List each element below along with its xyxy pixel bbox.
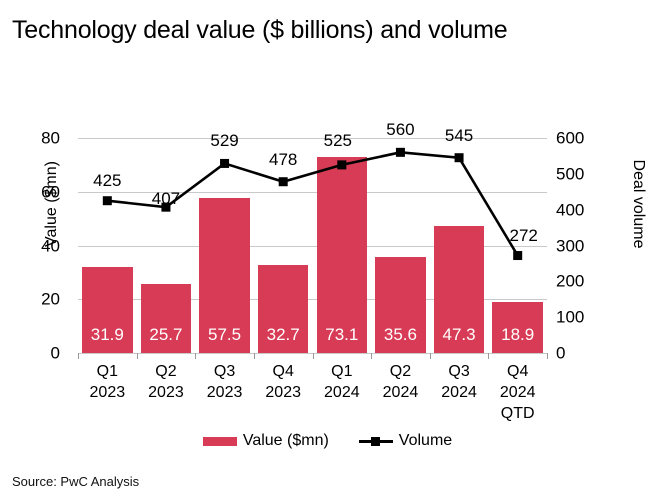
legend-item-label: Value ($mn) <box>243 432 329 450</box>
line-marker-icon <box>359 436 393 446</box>
legend-item[interactable]: Volume <box>359 432 452 450</box>
x-axis-category-line: Q3 <box>195 361 254 382</box>
x-axis-category-line: 2023 <box>254 382 313 403</box>
y-axis-right-tick-label: 200 <box>556 273 584 290</box>
y-axis-right-tick-label: 100 <box>556 309 584 326</box>
y-axis-right-ticks: 0100200300400500600 <box>556 138 616 353</box>
x-axis-tick-mark <box>371 353 372 359</box>
x-axis-tick-mark <box>78 353 79 359</box>
y-axis-right-tick-label: 0 <box>556 345 565 362</box>
x-axis-tick-mark <box>547 353 548 359</box>
x-axis-category-line: 2023 <box>195 382 254 403</box>
bar-swatch-icon <box>203 437 237 446</box>
x-axis-category-label: Q12023 <box>78 361 137 403</box>
y-axis-left-tick-label: 20 <box>41 291 60 308</box>
x-axis-tick-mark <box>137 353 138 359</box>
x-axis-category-line: 2023 <box>137 382 196 403</box>
x-axis-tick-mark <box>195 353 196 359</box>
legend: Value ($mn)Volume <box>0 432 655 450</box>
volume-value-label: 560 <box>386 120 414 140</box>
y-axis-left-tick-label: 40 <box>41 237 60 254</box>
volume-marker[interactable] <box>455 153 464 162</box>
chart-container: Technology deal value ($ billions) and v… <box>0 0 655 500</box>
legend-item-label: Volume <box>399 432 452 450</box>
x-axis-category-line: 2023 <box>78 382 137 403</box>
x-axis-tick-mark <box>313 353 314 359</box>
x-axis-category-label: Q22023 <box>137 361 196 403</box>
line-series <box>78 138 547 353</box>
volume-marker[interactable] <box>220 159 229 168</box>
y-axis-left-tick-label: 80 <box>41 130 60 147</box>
x-axis-category-line: Q1 <box>313 361 372 382</box>
volume-value-label: 272 <box>510 226 538 246</box>
x-axis-category-line: 2024 <box>371 382 430 403</box>
volume-value-label: 525 <box>324 131 352 151</box>
x-axis-category-line: Q2 <box>137 361 196 382</box>
volume-marker[interactable] <box>337 160 346 169</box>
volume-marker[interactable] <box>103 196 112 205</box>
volume-marker[interactable] <box>513 251 522 260</box>
volume-value-label: 478 <box>269 150 297 170</box>
y-axis-left-tick-label: 60 <box>41 183 60 200</box>
volume-value-label: 545 <box>445 126 473 146</box>
x-axis-tick-mark <box>488 353 489 359</box>
volume-value-label: 425 <box>93 171 121 191</box>
x-axis-category-label: Q42023 <box>254 361 313 403</box>
volume-value-label: 529 <box>210 131 238 151</box>
x-axis-category-line: Q3 <box>430 361 489 382</box>
x-axis-category-line: 2024 <box>488 382 547 403</box>
x-axis-category-line: Q4 <box>254 361 313 382</box>
y-axis-right-tick-label: 500 <box>556 165 584 182</box>
x-axis-category-line: 2024 <box>430 382 489 403</box>
x-axis: Q12023Q22023Q32023Q42023Q12024Q22024Q320… <box>78 353 547 423</box>
page-title: Technology deal value ($ billions) and v… <box>12 16 507 45</box>
x-axis-category-label: Q22024 <box>371 361 430 403</box>
x-axis-tick-mark <box>430 353 431 359</box>
x-axis-category-label: Q12024 <box>313 361 372 403</box>
x-axis-category-line: Q2 <box>371 361 430 382</box>
y-axis-right-tick-label: 300 <box>556 237 584 254</box>
x-axis-category-label: Q32023 <box>195 361 254 403</box>
source-note: Source: PwC Analysis <box>12 474 139 489</box>
x-axis-category-line: 2024 <box>313 382 372 403</box>
x-axis-category-line: Q4 <box>488 361 547 382</box>
y-axis-right-tick-label: 400 <box>556 201 584 218</box>
y-axis-right-title: Deal volume <box>629 144 647 264</box>
x-axis-category-label: Q32024 <box>430 361 489 403</box>
volume-marker[interactable] <box>396 148 405 157</box>
volume-marker[interactable] <box>279 177 288 186</box>
plot-area: 31.925.757.532.773.135.647.318.9 4254075… <box>78 138 547 353</box>
y-axis-right-tick-label: 600 <box>556 130 584 147</box>
x-axis-category-line: QTD <box>488 403 547 424</box>
y-axis-left-ticks: 020406080 <box>0 138 70 353</box>
volume-value-label: 407 <box>152 189 180 209</box>
x-axis-category-line: Q1 <box>78 361 137 382</box>
x-axis-tick-mark <box>254 353 255 359</box>
x-axis-category-label: Q42024QTD <box>488 361 547 424</box>
legend-item[interactable]: Value ($mn) <box>203 432 329 450</box>
y-axis-left-tick-label: 0 <box>51 345 60 362</box>
